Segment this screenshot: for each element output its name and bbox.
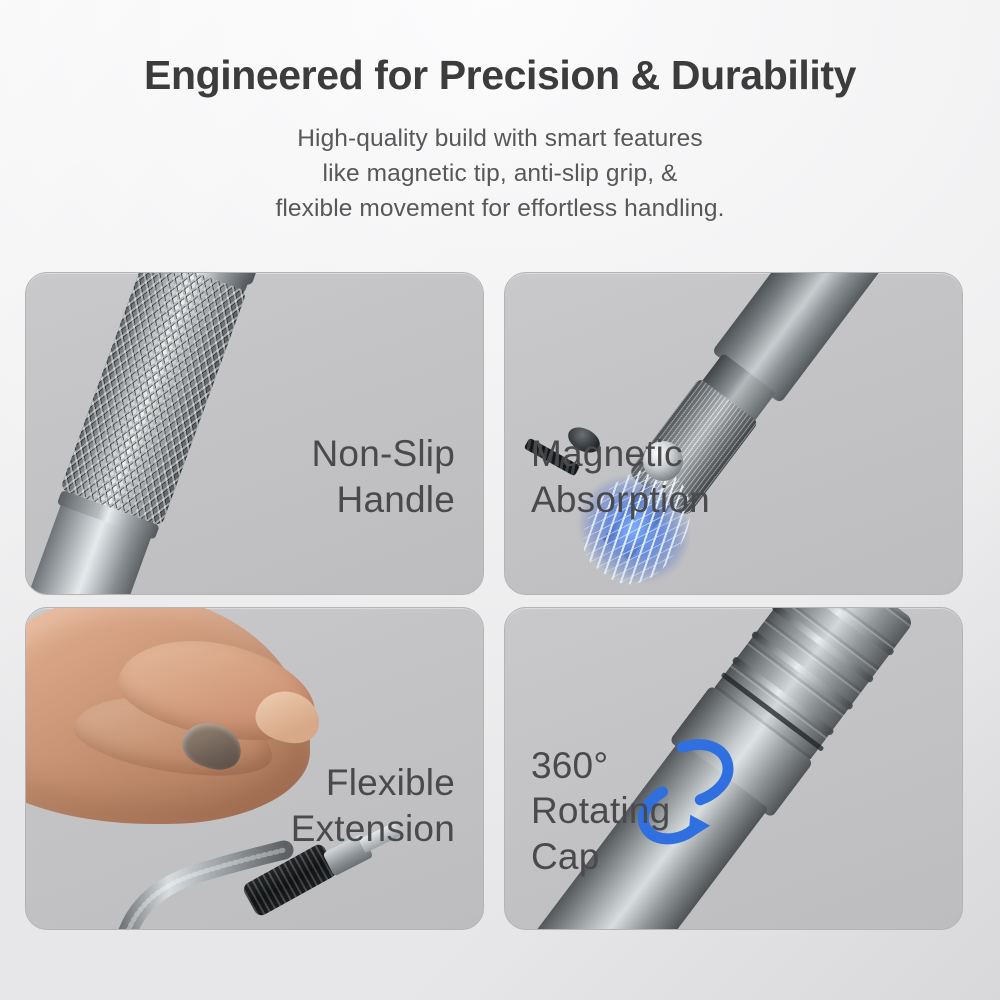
label-line-3: Cap bbox=[531, 834, 670, 880]
page-title: Engineered for Precision & Durability bbox=[0, 53, 1000, 98]
feature-card-label-non-slip-handle: Non-Slip Handle bbox=[312, 431, 456, 522]
feature-card-rotating-cap[interactable]: 360° Rotating Cap bbox=[504, 607, 963, 930]
flexible-shaft-icon bbox=[84, 734, 314, 930]
label-line-1: Flexible bbox=[291, 760, 455, 806]
header: Engineered for Precision & Durability Hi… bbox=[0, 0, 1000, 226]
subtitle-line-3: flexible movement for effortless handlin… bbox=[0, 192, 1000, 227]
label-line-2: Rotating bbox=[531, 788, 670, 834]
feature-card-label-rotating-cap: 360° Rotating Cap bbox=[531, 743, 670, 880]
label-line-2: Handle bbox=[312, 477, 456, 523]
label-line-1: Magnetic bbox=[531, 431, 710, 477]
feature-card-flexible-extension[interactable]: Flexible Extension bbox=[25, 607, 484, 930]
page-subtitle: High-quality build with smart features l… bbox=[0, 122, 1000, 226]
feature-card-grid: Non-Slip Handle Magnetic Absorption bbox=[25, 272, 975, 972]
label-line-2: Absorption bbox=[531, 477, 710, 523]
feature-card-label-flexible-extension: Flexible Extension bbox=[291, 760, 455, 851]
subtitle-line-1: High-quality build with smart features bbox=[0, 122, 1000, 157]
label-line-2: Extension bbox=[291, 806, 455, 852]
feature-card-magnetic-absorption[interactable]: Magnetic Absorption bbox=[504, 272, 963, 595]
feature-card-non-slip-handle[interactable]: Non-Slip Handle bbox=[25, 272, 484, 595]
feature-card-label-magnetic-absorption: Magnetic Absorption bbox=[531, 431, 710, 522]
label-line-1: Non-Slip bbox=[312, 431, 456, 477]
subtitle-line-2: like magnetic tip, anti-slip grip, & bbox=[0, 157, 1000, 192]
label-line-1: 360° bbox=[531, 743, 670, 789]
